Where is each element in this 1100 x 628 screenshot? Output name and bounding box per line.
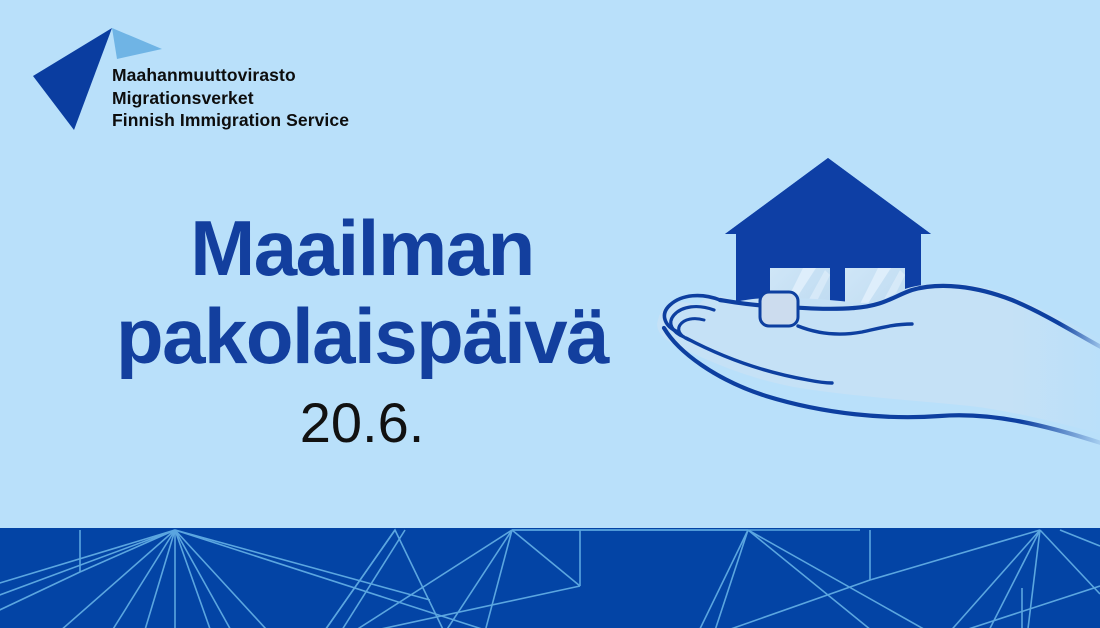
hand-icon bbox=[657, 283, 1100, 446]
house-roof-triangle bbox=[725, 158, 931, 234]
thumbnail bbox=[760, 292, 798, 326]
logo-line-sv: Migrationsverket bbox=[112, 87, 349, 110]
logo-line-fi: Maahanmuuttovirasto bbox=[112, 64, 349, 87]
logo-line-en: Finnish Immigration Service bbox=[112, 109, 349, 132]
headline-line-1: Maailman bbox=[62, 204, 662, 292]
hand-fill bbox=[657, 283, 1100, 436]
geometric-pattern-band bbox=[0, 528, 1100, 628]
hand-holding-house-illustration bbox=[640, 130, 1100, 470]
organization-logo: Maahanmuuttovirasto Migrationsverket Fin… bbox=[28, 22, 408, 142]
headline-line-2: pakolaispäivä bbox=[62, 292, 662, 380]
pattern-lines bbox=[0, 528, 1100, 628]
page-title: Maailman pakolaispäivä bbox=[62, 204, 662, 380]
event-date: 20.6. bbox=[62, 392, 662, 454]
poster-canvas: Maahanmuuttovirasto Migrationsverket Fin… bbox=[0, 0, 1100, 628]
logo-wordmark: Maahanmuuttovirasto Migrationsverket Fin… bbox=[112, 64, 349, 132]
